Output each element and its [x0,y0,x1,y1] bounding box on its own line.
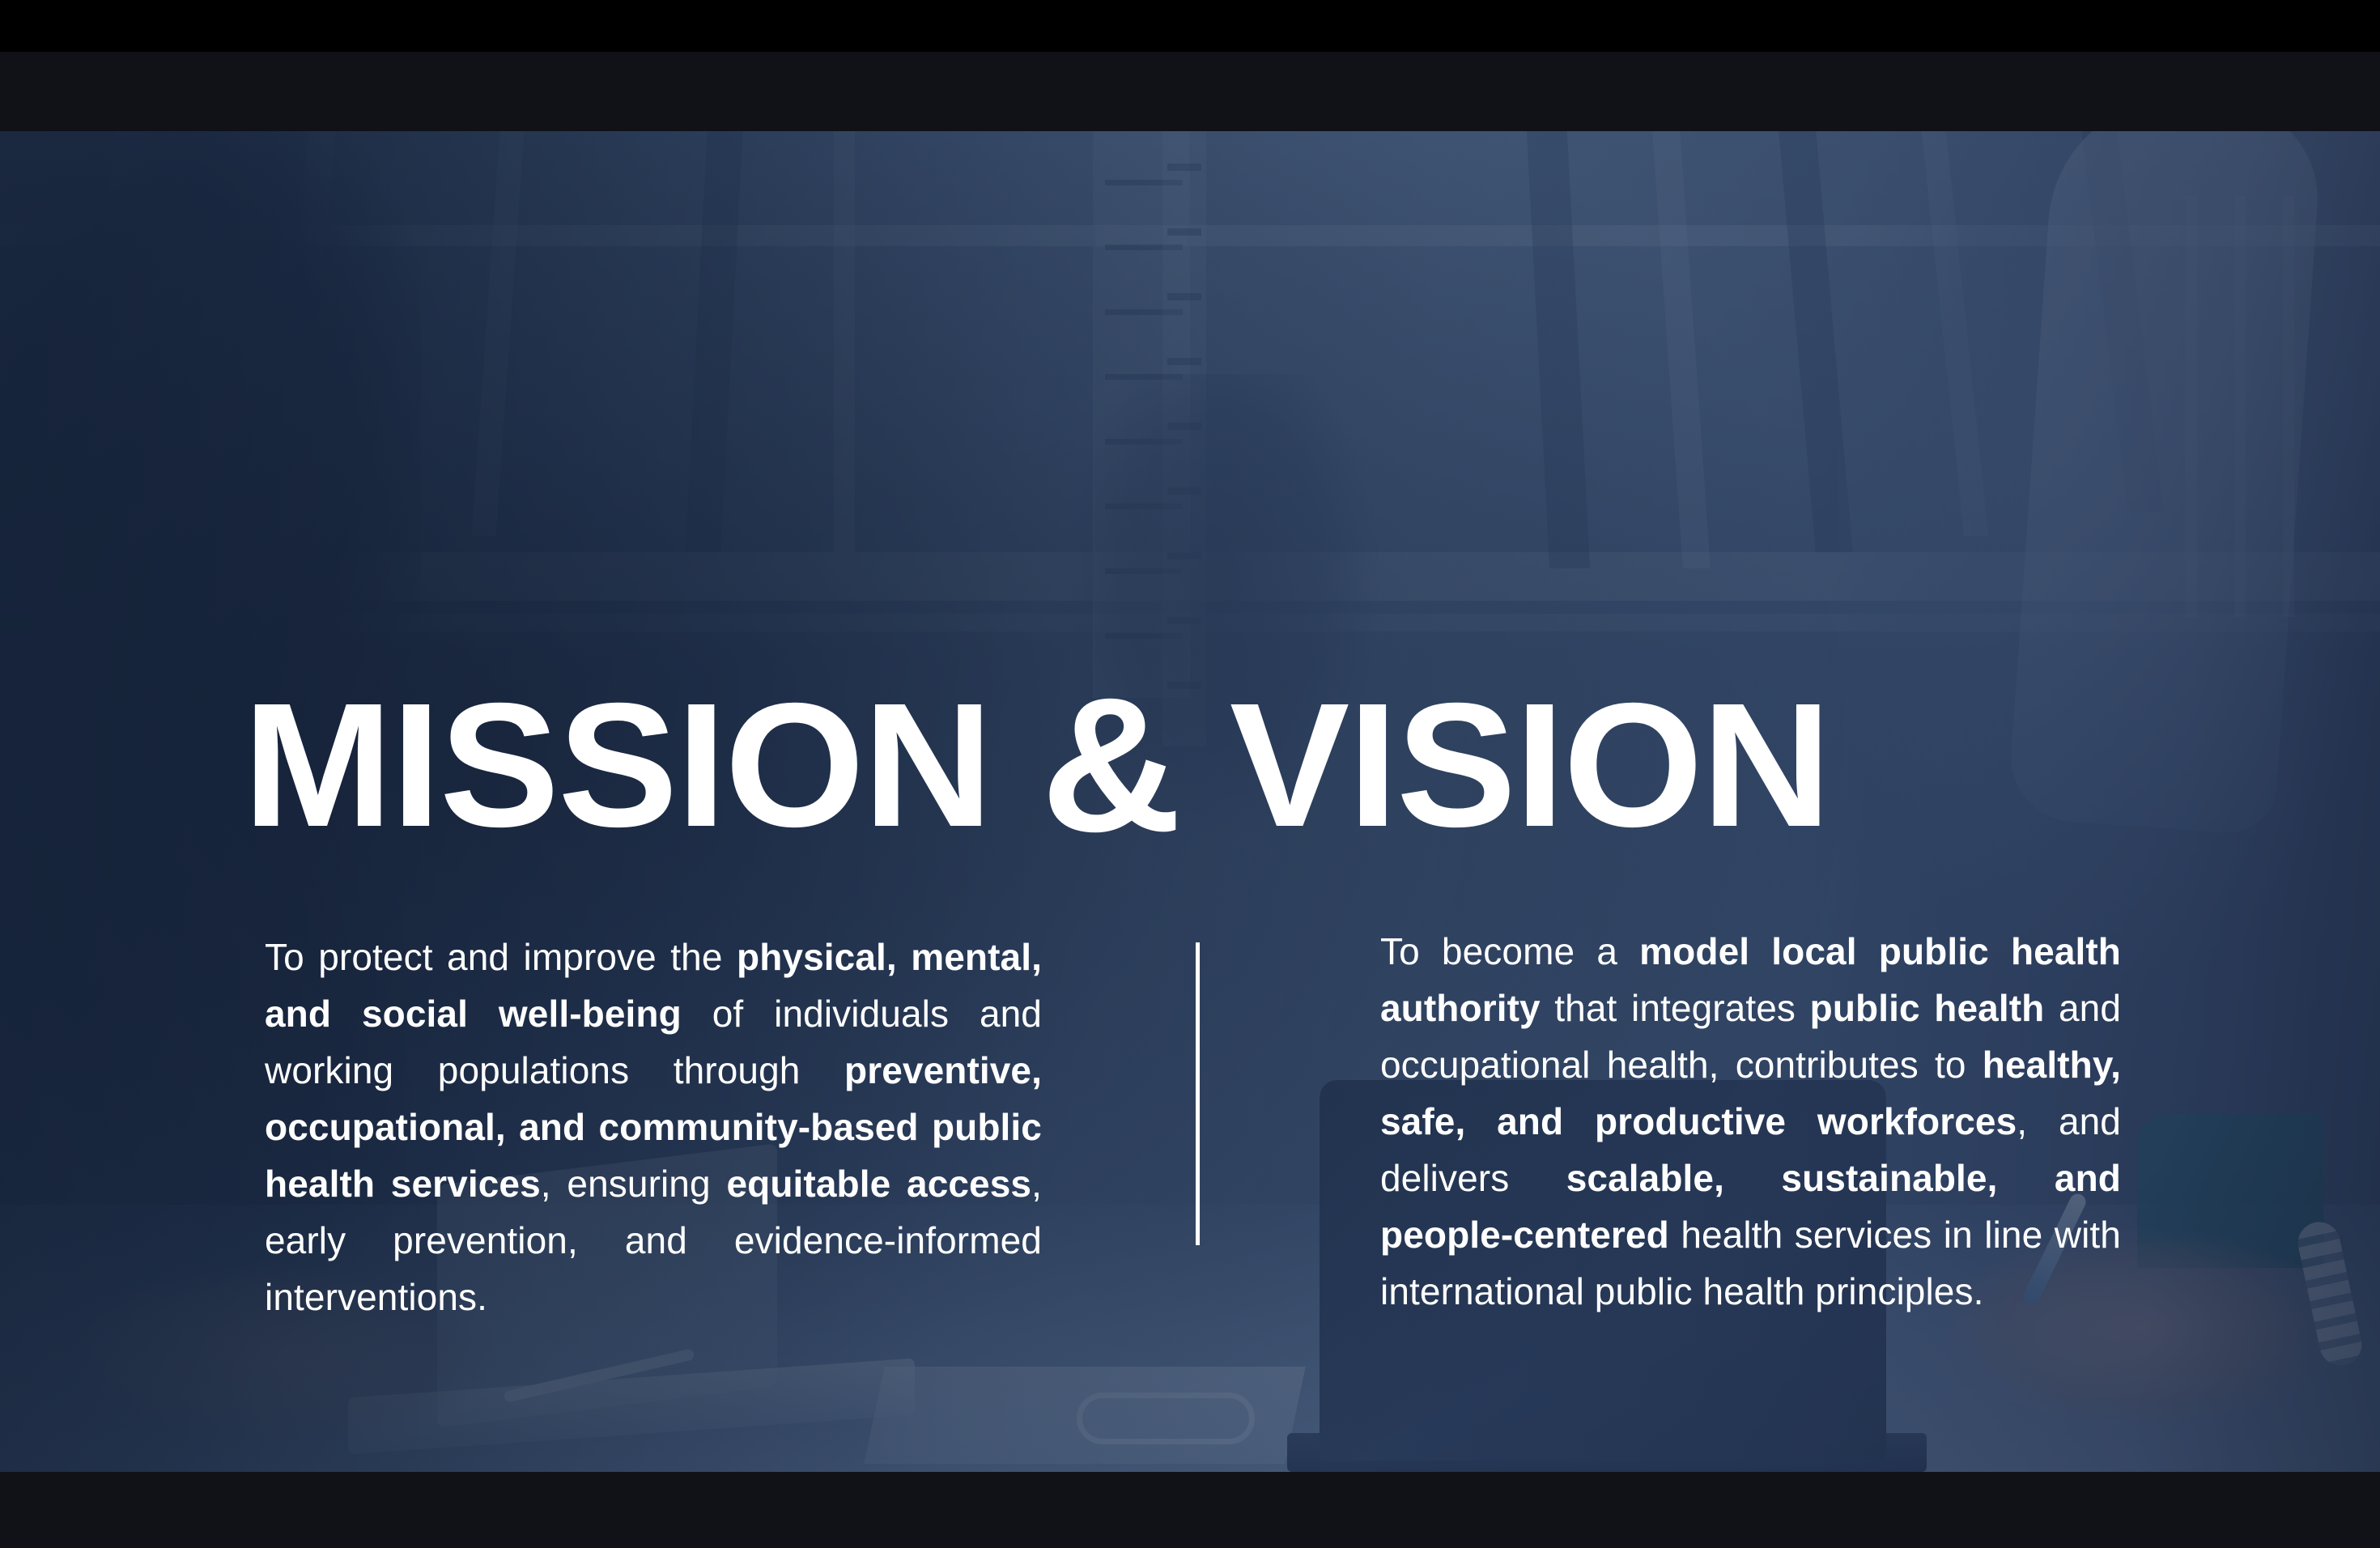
body-text: , ensuring [541,1163,727,1205]
mission-statement-text: To protect and improve the physical, men… [265,929,1042,1325]
body-text: that integrates [1541,987,1810,1029]
letterbox-top-black [0,0,2380,52]
body-text: To protect and improve the [265,936,737,978]
title-word-mission: MISSION [243,673,992,859]
page-title: MISSION&VISION [243,672,2093,858]
slide-content: MISSION&VISION To protect and improve th… [0,131,2380,1472]
body-text: To become a [1380,930,1639,972]
emphasis-text: public health [1810,987,2045,1029]
title-word-vision: VISION [1230,673,1830,859]
title-ampersand: & [1041,672,1180,858]
emphasis-text: equitable access [726,1163,1031,1205]
letterbox-top-dark [0,52,2380,131]
slide-background-photo: MISSION&VISION To protect and improve th… [0,131,2380,1472]
vision-statement-text: To become a model local public health au… [1380,923,2121,1320]
letterbox-bottom-dark [0,1472,2380,1548]
column-divider [1196,942,1200,1245]
presentation-slide: MISSION&VISION To protect and improve th… [0,0,2380,1548]
